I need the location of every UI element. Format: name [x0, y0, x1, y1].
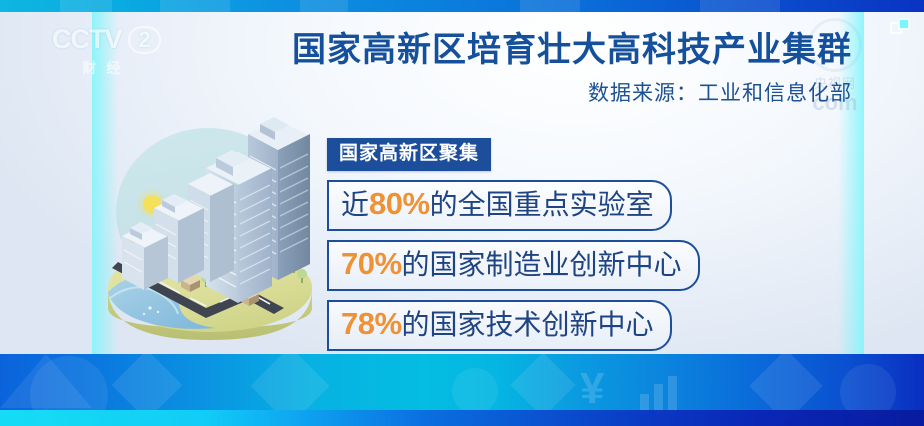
circle-icon — [452, 368, 498, 414]
fact-row: 70%的国家制造业创新中心 — [327, 240, 700, 291]
bottom-band-underline — [0, 410, 924, 426]
data-source-subtitle: 数据来源：工业和信息化部 — [172, 80, 852, 108]
fact-text: 70%的国家制造业创新中心 — [341, 249, 682, 280]
headline-block: 国家高新区培育壮大高科技产业集群 数据来源：工业和信息化部 — [172, 28, 852, 108]
overlapping-squares-icon — [890, 18, 912, 38]
fact-suffix: 的国家制造业创新中心 — [402, 249, 682, 280]
facts-badge: 国家高新区聚集 — [327, 138, 491, 171]
isometric-city-illustration — [88, 112, 340, 342]
diamond-icon — [510, 354, 575, 418]
facts-block: 国家高新区聚集 近80%的全国重点实验室 70%的国家制造业创新中心 78%的国… — [327, 138, 700, 351]
fact-row: 近80%的全国重点实验室 — [327, 180, 672, 231]
page-title: 国家高新区培育壮大高科技产业集群 — [172, 28, 852, 72]
fact-value: 70% — [341, 246, 402, 281]
bottom-decorative-band: ¥ — [0, 354, 924, 426]
fact-suffix: 的国家技术创新中心 — [402, 309, 654, 340]
broadcast-infographic-screen: CCTV 2 财经 央视网 com 国家高新区培育壮大高科技产业集群 数据来源：… — [0, 0, 924, 426]
top-decorative-strip — [0, 0, 924, 12]
fact-text: 近80%的全国重点实验室 — [341, 189, 654, 220]
yen-symbol-icon: ¥ — [580, 364, 604, 414]
fact-value: 78% — [341, 306, 402, 341]
fact-value: 80% — [369, 186, 430, 221]
fact-prefix: 近 — [341, 189, 369, 220]
fact-row: 78%的国家技术创新中心 — [327, 300, 672, 351]
fact-suffix: 的全国重点实验室 — [430, 189, 654, 220]
fact-text: 78%的国家技术创新中心 — [341, 309, 654, 340]
